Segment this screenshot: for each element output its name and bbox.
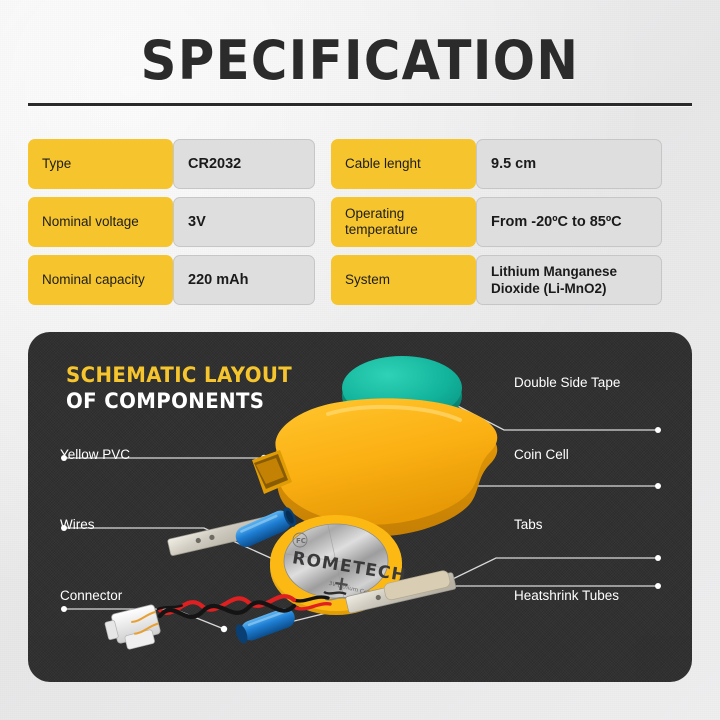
spec-label-system: System [331,255,476,305]
page-title: SPECIFICATION [29,32,691,90]
callout-label-yellow-pvc: Yellow PVC [60,447,130,463]
table-column-gap [315,255,331,305]
callout-label-coin-cell: Coin Cell [514,447,569,463]
spec-label-operating-temperature: Operating temperature [331,197,476,247]
callout-label-tabs: Tabs [514,517,543,533]
schematic-layout-panel: SCHEMATIC LAYOUT OF COMPONENTS [28,332,692,682]
title-divider [28,103,692,106]
specification-table: Type CR2032 Cable lenght 9.5 cm Nominal … [28,139,692,305]
spec-label-nominal-voltage: Nominal voltage [28,197,173,247]
connector-part [103,597,190,653]
spec-value-nominal-voltage: 3V [173,197,315,247]
callout-label-double-side-tape: Double Side Tape [514,375,620,391]
spec-value-nominal-capacity: 220 mAh [173,255,315,305]
callout-label-wires: Wires [60,517,95,533]
svg-text:FC: FC [296,537,306,545]
spec-label-cable-length: Cable lenght [331,139,476,189]
spec-value-system: Lithium Manganese Dioxide (Li-MnO2) [476,255,662,305]
table-column-gap [315,139,331,189]
callout-label-heatshrink-tubes: Heatshrink Tubes [514,588,619,604]
callout-label-connector: Connector [60,588,122,604]
table-column-gap [315,197,331,247]
spec-value-type: CR2032 [173,139,315,189]
spec-label-nominal-capacity: Nominal capacity [28,255,173,305]
spec-label-type: Type [28,139,173,189]
spec-value-cable-length: 9.5 cm [476,139,662,189]
spec-value-operating-temperature: From -20ºC to 85ºC [476,197,662,247]
